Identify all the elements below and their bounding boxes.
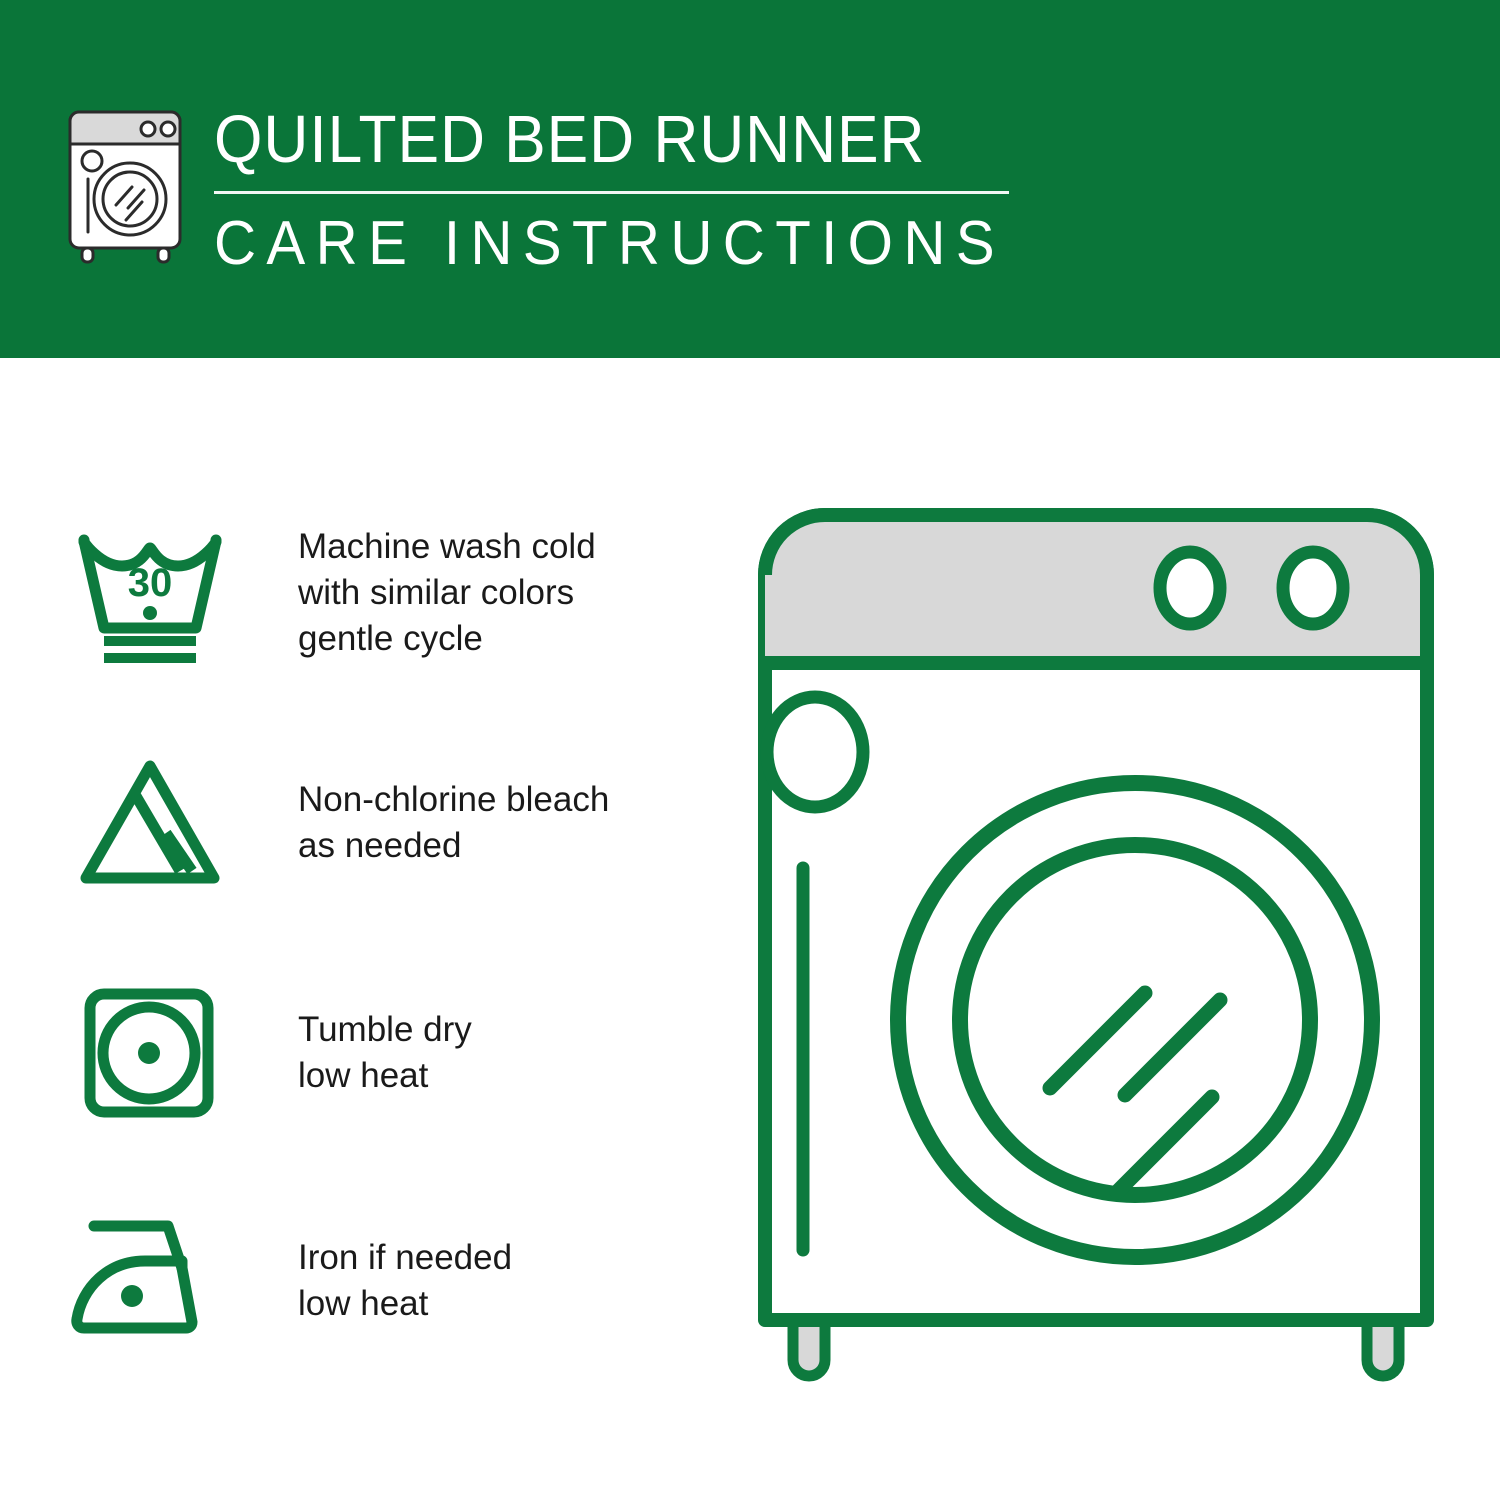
wash-tub-30-gentle-icon: 30 xyxy=(70,518,230,668)
care-instruction-list: 30 Machine wash cold with similar colors… xyxy=(0,358,700,1500)
care-item-tumble-dry-label: Tumble dry low heat xyxy=(298,1007,472,1099)
care-item-tumble-dry: Tumble dry low heat xyxy=(70,978,670,1128)
care-item-bleach-label: Non-chlorine bleach as needed xyxy=(298,777,609,869)
washing-machine-icon xyxy=(64,104,196,264)
page-title: QUILTED BED RUNNER xyxy=(214,100,958,180)
wash-temperature-value: 30 xyxy=(128,561,173,605)
header-divider xyxy=(214,191,1009,194)
header-text-block: QUILTED BED RUNNER CARE INSTRUCTIONS xyxy=(214,100,1014,280)
care-item-iron-label: Iron if needed low heat xyxy=(298,1235,512,1327)
header-band: QUILTED BED RUNNER CARE INSTRUCTIONS xyxy=(0,0,1500,358)
tumble-dry-low-heat-icon xyxy=(70,978,230,1128)
page-subtitle: CARE INSTRUCTIONS xyxy=(214,208,966,280)
front-load-washing-machine-illustration xyxy=(735,480,1475,1440)
care-item-wash: 30 Machine wash cold with similar colors… xyxy=(70,518,670,668)
iron-low-heat-icon xyxy=(70,1206,230,1356)
care-item-wash-label: Machine wash cold with similar colors ge… xyxy=(298,524,596,662)
care-item-iron: Iron if needed low heat xyxy=(70,1206,670,1356)
care-item-bleach: Non-chlorine bleach as needed xyxy=(70,748,670,898)
triangle-non-chlorine-bleach-icon xyxy=(70,748,230,898)
